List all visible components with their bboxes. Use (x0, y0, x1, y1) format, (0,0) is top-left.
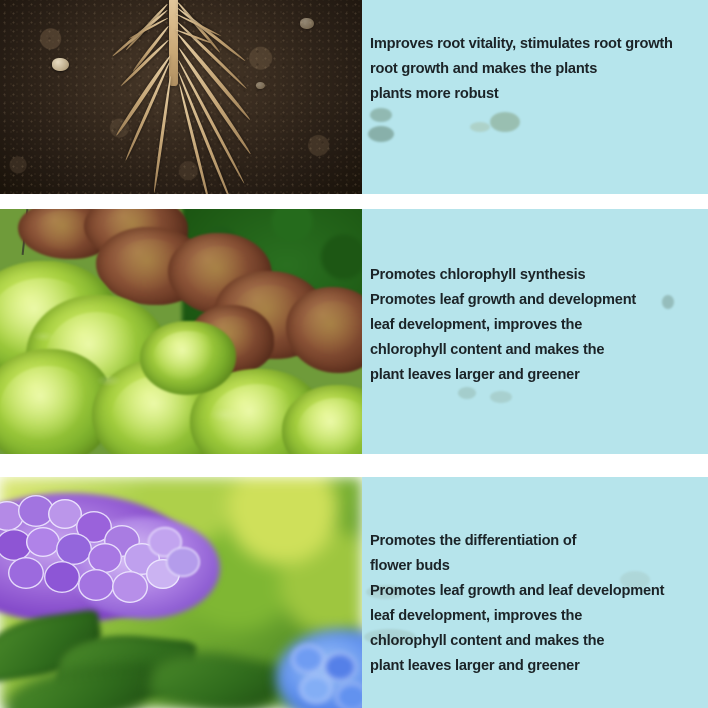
hydrangea-floret (292, 645, 324, 673)
benefit-panel-chlorophyll: Promotes chlorophyll synthesis Promotes … (0, 209, 708, 454)
benefit-line: plants more robust (370, 82, 708, 107)
benefit-text-panel-3: Promotes the differentiation of flower b… (362, 477, 708, 708)
hydrangea-photo (0, 477, 362, 708)
residue-smudge (368, 126, 394, 142)
benefit-lines-1: Improves root vitality, stimulates root … (370, 32, 708, 107)
hydrangea-floret (112, 571, 148, 603)
benefits-infographic: Improves root vitality, stimulates root … (0, 0, 708, 708)
benefit-line: root growth and makes the plants (370, 57, 708, 82)
hydrangea-floret (300, 675, 332, 703)
root-photo (0, 0, 362, 194)
benefit-line: flower buds (370, 554, 708, 579)
benefit-text-panel-2: Promotes chlorophyll synthesis Promotes … (362, 209, 708, 454)
benefit-line: Promotes leaf growth and leaf developmen… (370, 579, 708, 604)
residue-smudge (458, 387, 476, 399)
residue-smudge (370, 108, 392, 122)
benefit-lines-2: Promotes chlorophyll synthesis Promotes … (370, 263, 708, 388)
benefit-line: Promotes leaf growth and development (370, 288, 708, 313)
hydrangea-floret (324, 653, 356, 681)
benefit-line: Promotes chlorophyll synthesis (370, 263, 708, 288)
hydrangea-floret (26, 527, 60, 557)
benefit-panel-flower-buds: Promotes the differentiation of flower b… (0, 477, 708, 708)
benefit-line: plant leaves larger and greener (370, 363, 708, 388)
residue-smudge (490, 112, 520, 132)
benefit-text-panel-1: Improves root vitality, stimulates root … (362, 0, 708, 194)
lettuce-photo (0, 209, 362, 454)
residue-smudge (470, 122, 490, 132)
benefit-line: leaf development, improves the (370, 313, 708, 338)
hydrangea-floret (44, 561, 80, 593)
hydrangea-floret (336, 683, 362, 708)
benefit-line: plant leaves larger and greener (370, 654, 708, 679)
benefit-line: Improves root vitality, stimulates root … (370, 32, 708, 57)
pebble-icon (256, 82, 265, 89)
benefit-line: chlorophyll content and makes the (370, 629, 708, 654)
hydrangea-floret (166, 547, 200, 577)
taproot (169, 0, 178, 86)
benefit-line: Promotes the differentiation of (370, 529, 708, 554)
benefit-lines-3: Promotes the differentiation of flower b… (370, 529, 708, 679)
hydrangea-floret (8, 557, 44, 589)
hydrangea-floret (78, 569, 114, 601)
benefit-line: leaf development, improves the (370, 604, 708, 629)
residue-smudge (490, 391, 512, 403)
benefit-panel-root-vitality: Improves root vitality, stimulates root … (0, 0, 708, 194)
benefit-line: chlorophyll content and makes the (370, 338, 708, 363)
pebble-icon (300, 18, 314, 29)
pebble-icon (52, 58, 69, 71)
green-lettuce-head (140, 321, 236, 395)
